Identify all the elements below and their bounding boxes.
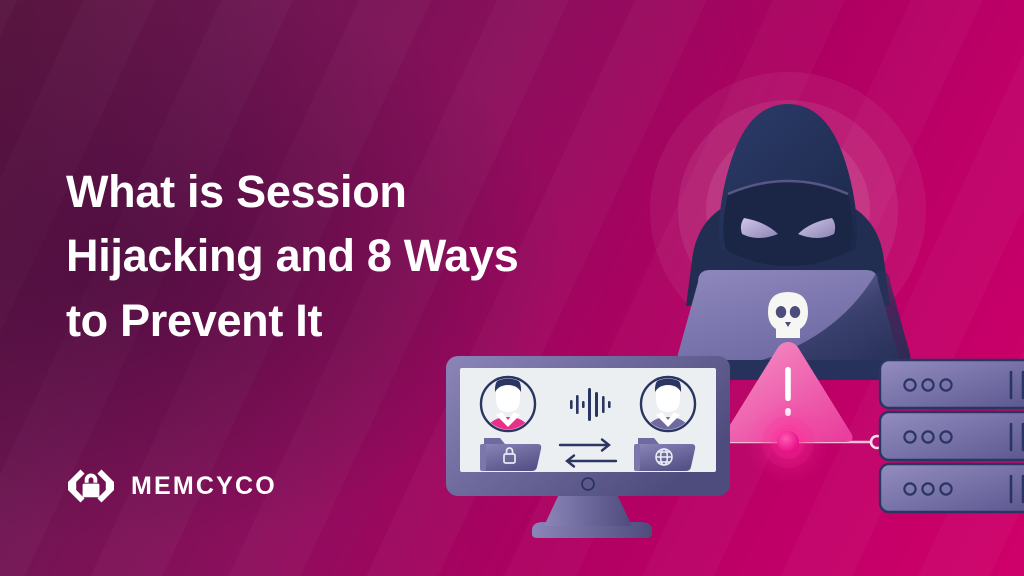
headline-line-3: to Prevent It [66,289,626,353]
logo-wordmark: MEMCYCO [131,472,277,501]
server-unit [880,464,1024,512]
headline-line-1: What is Session [66,160,626,224]
server-rack [880,360,1024,512]
banner: What is Session Hijacking and 8 Ways to … [0,0,1024,576]
headline-line-2: Hijacking and 8 Ways [66,224,626,288]
monitor-stand [544,492,632,526]
desktop-monitor [446,356,730,538]
lock-in-chevrons-icon [66,462,116,510]
server-unit [880,360,1024,408]
network-node [746,400,830,484]
server-unit [880,412,1024,460]
page-title: What is Session Hijacking and 8 Ways to … [66,160,626,353]
brand-logo[interactable]: MEMCYCO [66,462,277,510]
